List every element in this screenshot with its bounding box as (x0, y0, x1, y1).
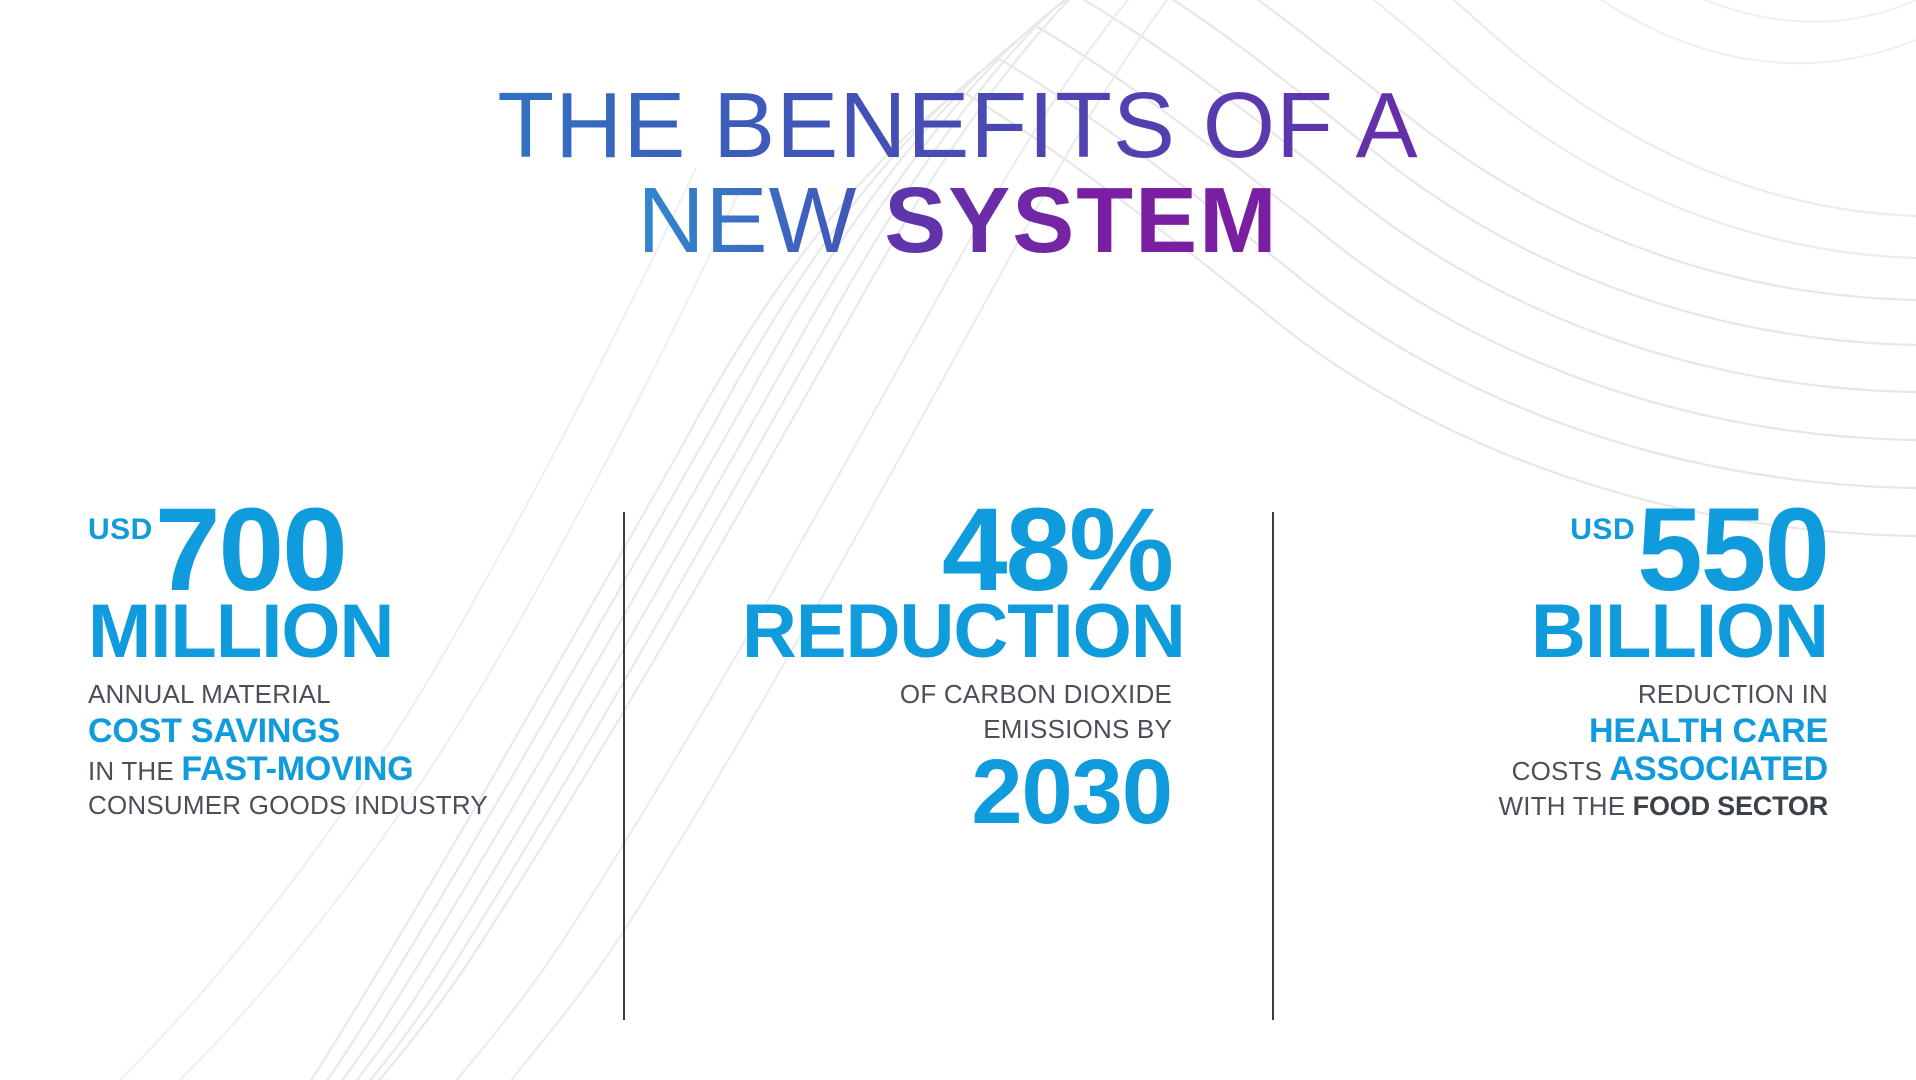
page-title: THE BENEFITS OF A NEW SYSTEM (0, 78, 1916, 268)
stat-number: 700 (155, 500, 346, 601)
stat-block-co2-reduction: 48% REDUCTION OF CARBON DIOXIDE EMISSION… (742, 500, 1172, 836)
desc-line: CONSUMER GOODS INDUSTRY (88, 788, 558, 823)
desc-line-highlight: COST SAVINGS (88, 712, 558, 750)
desc-line: ANNUAL MATERIAL (88, 677, 558, 712)
title-line-2-bold: SYSTEM (884, 168, 1278, 272)
stat-unit: BILLION (1378, 597, 1828, 667)
statistics-row: USD 700 MILLION ANNUAL MATERIAL COST SAV… (0, 500, 1916, 1060)
title-line-2-light: NEW (637, 168, 884, 272)
stat-block-cost-savings: USD 700 MILLION ANNUAL MATERIAL COST SAV… (88, 500, 558, 823)
stat-unit: REDUCTION (742, 597, 1172, 667)
desc-line-mixed: IN THE FAST-MOVING (88, 750, 558, 788)
title-line-2: NEW SYSTEM (0, 173, 1916, 268)
title-line-1: THE BENEFITS OF A (0, 78, 1916, 173)
stat-number: 550 (1637, 500, 1828, 601)
stat-headline: USD 550 (1378, 500, 1828, 601)
currency-label: USD (88, 515, 153, 545)
currency-label: USD (1570, 515, 1635, 545)
desc-line-mixed-dark: WITH THE FOOD SECTOR (1378, 788, 1828, 824)
stat-headline: USD 700 (88, 500, 558, 601)
stat-description: OF CARBON DIOXIDE EMISSIONS BY (742, 677, 1172, 747)
stat-year: 2030 (742, 749, 1172, 835)
desc-line: OF CARBON DIOXIDE (742, 677, 1172, 712)
stat-unit: MILLION (88, 597, 558, 667)
desc-line-highlight: HEALTH CARE (1378, 712, 1828, 750)
stat-number: 48% (942, 500, 1172, 601)
desc-line-mixed: COSTS ASSOCIATED (1378, 750, 1828, 788)
stat-description: ANNUAL MATERIAL COST SAVINGS IN THE FAST… (88, 677, 558, 823)
desc-line: REDUCTION IN (1378, 677, 1828, 712)
slide-canvas: THE BENEFITS OF A NEW SYSTEM USD 700 MIL… (0, 0, 1916, 1080)
stat-headline: 48% (742, 500, 1172, 601)
stat-block-health-care: USD 550 BILLION REDUCTION IN HEALTH CARE… (1378, 500, 1828, 825)
stat-description: REDUCTION IN HEALTH CARE COSTS ASSOCIATE… (1378, 677, 1828, 824)
